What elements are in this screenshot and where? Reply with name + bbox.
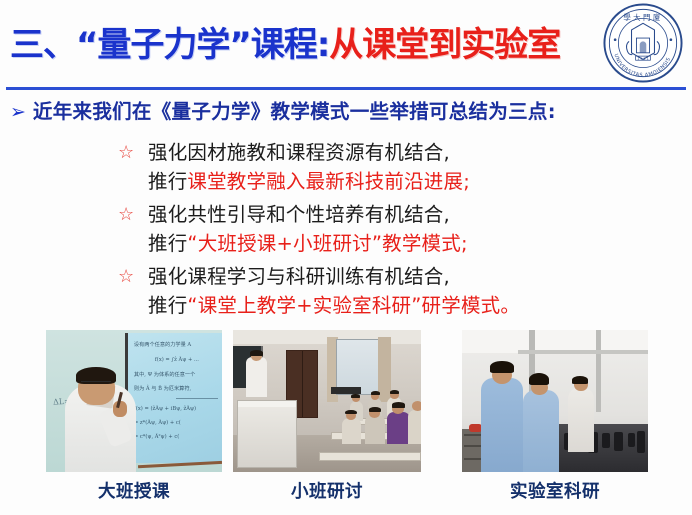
lectern <box>237 400 297 468</box>
title-divider <box>6 87 686 90</box>
board-equation-1: 设有两个任意的力学量 A <box>134 341 220 349</box>
board-equation-7: = c*(ψ, Â²ψ) + c( <box>134 433 220 441</box>
bullet-2-prefix: 推行 <box>148 232 187 255</box>
arrow-bullet-icon: ➢ <box>10 99 26 125</box>
board-equation-2: f(x) = ∫ẑ Âψ + ... <box>134 356 220 364</box>
bullet-list: ☆ 强化因材施教和课程资源有机结合, 推行课堂教学融入最新科技前沿进展; ☆ 强… <box>118 138 678 324</box>
board-equation-3: 其中, Ψ 为体系的任意一个 <box>134 371 220 379</box>
board-equation-4: 则为 Â 与 B̂ 为厄米算符, <box>134 385 220 393</box>
bullet-2-highlight: “大班授课+小班研讨”教学模式; <box>187 232 467 255</box>
caption-laboratory-research: 实验室科研 <box>462 478 648 503</box>
bullet-item-1: ☆ 强化因材施教和课程资源有机结合, 推行课堂教学融入最新科技前沿进展; <box>118 138 678 196</box>
bullet-item-2: ☆ 强化共性引导和个性培养有机结合, 推行“大班授课+小班研讨”教学模式; <box>118 200 678 258</box>
caption-row: 大班授课 小班研讨 实验室科研 <box>0 478 692 508</box>
bullet-item-3: ☆ 强化课程学习与科研训练有机结合, 推行“课堂上教学+实验室科研”研学模式。 <box>118 262 678 320</box>
caption-large-class-lecture: 大班授课 <box>46 478 222 503</box>
photo-small-class-seminar <box>233 330 421 472</box>
bullet-3-highlight: “课堂上教学+实验室科研”研学模式。 <box>187 294 520 317</box>
bullet-1-line-2: 推行课堂教学融入最新科技前沿进展; <box>148 167 678 196</box>
star-bullet-icon: ☆ <box>118 262 148 291</box>
researcher-1 <box>481 378 524 472</box>
bullet-1-prefix: 推行 <box>148 170 187 193</box>
leadin-line: ➢ 近年来我们在《量子力学》教学模式一些举措可总结为三点: <box>10 99 690 125</box>
bullet-3-line-1: 强化课程学习与科研训练有机结合, <box>148 262 678 291</box>
caption-small-class-seminar: 小班研讨 <box>233 478 421 503</box>
photo-laboratory-research <box>462 330 648 472</box>
star-bullet-icon: ☆ <box>118 200 148 229</box>
university-seal-icon: 1 9 2 1 學大門廈 UNIVERSITAS AMOIENSIS <box>602 2 684 84</box>
photo-row: ΔL=0 设有两个任意的力学量 A f(x) = ∫ẑ Âψ + ... 其中,… <box>0 330 692 472</box>
photo-large-class-lecture: ΔL=0 设有两个任意的力学量 A f(x) = ∫ẑ Âψ + ... 其中,… <box>46 330 222 472</box>
bullet-3-prefix: 推行 <box>148 294 187 317</box>
bullet-1-line-1: 强化因材施教和课程资源有机结合, <box>148 138 678 167</box>
bullet-2-line-1: 强化共性引导和个性培养有机结合, <box>148 200 678 229</box>
svg-text:1 9 2 1: 1 9 2 1 <box>637 57 648 61</box>
leadin-text: 近年来我们在《量子力学》教学模式一些举措可总结为三点: <box>33 99 556 125</box>
page-title-red-part: 从课堂到实验室 <box>329 28 560 64</box>
bullet-2-line-2: 推行“大班授课+小班研讨”教学模式; <box>148 229 678 258</box>
bullet-1-highlight: 课堂教学融入最新科技前沿进展; <box>187 170 470 193</box>
svg-text:學大門廈: 學大門廈 <box>623 13 662 22</box>
board-equation-6: = z*(Âψ, Âψ) + c( <box>134 419 220 427</box>
page-title-blue-part: 三、“量子力学”课程: <box>10 28 329 64</box>
researcher-2 <box>523 390 558 472</box>
bullet-3-line-2: 推行“课堂上教学+实验室科研”研学模式。 <box>148 291 678 320</box>
board-equation-5: f(x) = (ẑÂψ + iBψ, ẑÂψ) <box>134 405 220 413</box>
projection-screen: 设有两个任意的力学量 A f(x) = ∫ẑ Âψ + ... 其中, Ψ 为体… <box>125 333 222 464</box>
researcher-3 <box>568 387 594 452</box>
page-title: 三、“量子力学”课程: 从课堂到实验室 <box>0 14 692 78</box>
slide-root: 三、“量子力学”课程: 从课堂到实验室 1 9 2 1 學大門廈 UNIVERS… <box>0 0 692 515</box>
star-bullet-icon: ☆ <box>118 138 148 167</box>
